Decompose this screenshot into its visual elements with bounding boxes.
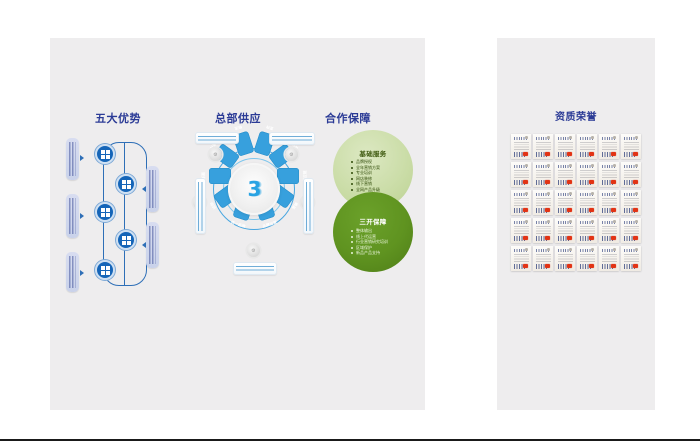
- certificate-red-seal: [523, 236, 528, 241]
- section-title-supply: 总部供应: [215, 110, 261, 126]
- certificate-emblem-icon: [569, 136, 572, 139]
- certificate-body-text: [580, 226, 595, 235]
- guarantee-circles: 基础服务 品牌授权全年营销方案专业培训网店装修线下营销全网产品升级 三开保障 整…: [325, 130, 435, 290]
- section-title-advantages: 五大优势: [95, 110, 141, 126]
- slide-canvas: 五大优势 总部供应 合作保障 统一品牌培训服: [0, 0, 700, 441]
- satellite-gear-icon-bottom[interactable]: ⚙: [247, 244, 260, 257]
- left-content-panel: 五大优势 总部供应 合作保障 统一品牌培训服: [50, 38, 425, 410]
- certificate-body-text: [558, 170, 573, 179]
- certificate-body-text: [624, 198, 639, 207]
- certificate-body-text: [536, 254, 551, 263]
- advantage-node-5[interactable]: [95, 260, 115, 280]
- guarantee-item-list: 品牌授权全年营销方案专业培训网店装修线下营销全网产品升级: [351, 159, 380, 193]
- supply-callout-right[interactable]: [303, 178, 314, 234]
- certificate-red-seal: [633, 236, 638, 241]
- certificate-red-seal: [567, 180, 572, 185]
- certificate-thumbnail[interactable]: [533, 162, 553, 187]
- certificate-emblem-icon: [613, 136, 616, 139]
- certificate-thumbnail[interactable]: [577, 162, 597, 187]
- supply-callout-bottom[interactable]: [233, 262, 277, 275]
- certificate-thumbnail[interactable]: [577, 218, 597, 243]
- certificate-thumbnail[interactable]: [577, 246, 597, 271]
- supply-callout-left[interactable]: [195, 178, 206, 234]
- right-content-panel: 资质荣誉: [497, 38, 655, 410]
- satellite-gear-icon-top-left[interactable]: ⚙: [209, 148, 222, 161]
- certificate-body-text: [602, 226, 617, 235]
- certificate-red-seal: [589, 152, 594, 157]
- certificate-emblem-icon: [569, 220, 572, 223]
- certificate-thumbnail[interactable]: [621, 134, 641, 159]
- advantage-node-2[interactable]: [116, 174, 136, 194]
- certificate-emblem-icon: [635, 192, 638, 195]
- certificate-body-text: [580, 170, 595, 179]
- grid-squares-icon: [101, 208, 110, 217]
- certificate-red-seal: [545, 264, 550, 269]
- certificate-body-text: [580, 198, 595, 207]
- certificate-red-seal: [589, 208, 594, 213]
- supply-ring-diagram: 统一品牌培训服务支持物流宣传设计供应链营销品牌运营 3 ⚙ ⚙ ⚙ ⚙ ⚙: [191, 126, 316, 316]
- certificate-thumbnail[interactable]: [621, 218, 641, 243]
- certificate-body-text: [514, 142, 529, 151]
- certificate-emblem-icon: [635, 248, 638, 251]
- certificate-red-seal: [589, 264, 594, 269]
- certificate-body-text: [514, 254, 529, 263]
- certificate-emblem-icon: [525, 220, 528, 223]
- certificate-emblem-icon: [591, 164, 594, 167]
- certificate-thumbnail[interactable]: [511, 162, 531, 187]
- certificate-body-text: [580, 142, 595, 151]
- certificate-red-seal: [545, 236, 550, 241]
- section-title-guarantee: 合作保障: [325, 110, 371, 126]
- certificate-red-seal: [611, 236, 616, 241]
- supply-callout-top-left[interactable]: [195, 132, 239, 144]
- certificate-emblem-icon: [569, 192, 572, 195]
- certificate-emblem-icon: [613, 248, 616, 251]
- certificate-body-text: [514, 226, 529, 235]
- certificate-red-seal: [567, 236, 572, 241]
- certificate-emblem-icon: [591, 192, 594, 195]
- certificate-thumbnail[interactable]: [533, 246, 553, 271]
- certificate-thumbnail[interactable]: [599, 218, 619, 243]
- certificate-red-seal: [589, 236, 594, 241]
- certificate-thumbnail[interactable]: [533, 190, 553, 215]
- certificate-emblem-icon: [635, 164, 638, 167]
- certificate-red-seal: [611, 152, 616, 157]
- advantage-callout-4[interactable]: [146, 222, 159, 268]
- grid-squares-icon: [101, 266, 110, 275]
- certificate-emblem-icon: [547, 248, 550, 251]
- certificate-thumbnail[interactable]: [577, 134, 597, 159]
- certificate-emblem-icon: [525, 136, 528, 139]
- certificate-body-text: [536, 226, 551, 235]
- advantage-callout-3[interactable]: [66, 194, 79, 238]
- certificate-thumbnail[interactable]: [555, 162, 575, 187]
- certificate-thumbnail[interactable]: [577, 190, 597, 215]
- certificate-emblem-icon: [591, 220, 594, 223]
- certificate-emblem-icon: [525, 248, 528, 251]
- certificate-thumbnail[interactable]: [533, 218, 553, 243]
- certificate-thumbnail[interactable]: [599, 246, 619, 271]
- certificate-red-seal: [633, 152, 638, 157]
- certificate-body-text: [514, 198, 529, 207]
- certificate-emblem-icon: [547, 192, 550, 195]
- certificate-emblem-icon: [547, 136, 550, 139]
- certificate-body-text: [624, 226, 639, 235]
- certificate-emblem-icon: [525, 192, 528, 195]
- guarantee-item-list: 整体输出线上代运营行业营销研究培训区域保护新品产品支持: [351, 228, 388, 256]
- certificate-emblem-icon: [635, 136, 638, 139]
- grid-squares-icon: [101, 150, 110, 159]
- certificate-grid: [511, 134, 641, 271]
- advantage-callout-2[interactable]: [146, 166, 159, 212]
- certificate-emblem-icon: [547, 220, 550, 223]
- certificate-body-text: [514, 170, 529, 179]
- advantage-node-4[interactable]: [116, 230, 136, 250]
- certificate-thumbnail[interactable]: [599, 134, 619, 159]
- certificate-body-text: [558, 198, 573, 207]
- certificate-emblem-icon: [591, 136, 594, 139]
- callout-arrow-3: [80, 213, 84, 219]
- certificate-body-text: [558, 254, 573, 263]
- callout-arrow-1: [80, 155, 84, 161]
- certificate-body-text: [580, 254, 595, 263]
- certificate-red-seal: [567, 208, 572, 213]
- certificate-emblem-icon: [591, 248, 594, 251]
- certificate-emblem-icon: [547, 164, 550, 167]
- certificate-body-text: [558, 142, 573, 151]
- certificate-body-text: [624, 254, 639, 263]
- certificate-red-seal: [589, 180, 594, 185]
- certificate-thumbnail[interactable]: [599, 162, 619, 187]
- certificate-body-text: [602, 142, 617, 151]
- certificate-red-seal: [523, 208, 528, 213]
- certificate-thumbnail[interactable]: [621, 190, 641, 215]
- certificate-body-text: [558, 226, 573, 235]
- certificate-red-seal: [611, 208, 616, 213]
- certificate-thumbnail[interactable]: [555, 246, 575, 271]
- certificate-emblem-icon: [613, 192, 616, 195]
- certificate-red-seal: [567, 264, 572, 269]
- certificate-red-seal: [523, 264, 528, 269]
- certificate-red-seal: [567, 152, 572, 157]
- certificate-thumbnail[interactable]: [533, 134, 553, 159]
- certificate-body-text: [624, 142, 639, 151]
- grid-squares-icon: [122, 236, 131, 245]
- advantage-callout-5[interactable]: [66, 252, 79, 292]
- certificate-emblem-icon: [613, 220, 616, 223]
- satellite-gear-icon-top-right[interactable]: ⚙: [285, 148, 298, 161]
- certificate-red-seal: [611, 264, 616, 269]
- advantage-node-1[interactable]: [95, 144, 115, 164]
- certificate-thumbnail[interactable]: [621, 246, 641, 271]
- advantage-callout-1[interactable]: [66, 138, 79, 180]
- certificate-thumbnail[interactable]: [511, 218, 531, 243]
- certificate-thumbnail[interactable]: [511, 134, 531, 159]
- flow-spine: [124, 142, 125, 286]
- section-title-honors: 资质荣誉: [497, 108, 655, 123]
- advantages-flow-diagram: [78, 134, 188, 294]
- logo-text: 3: [248, 179, 261, 199]
- certificate-red-seal: [523, 152, 528, 157]
- certificate-red-seal: [633, 264, 638, 269]
- certificate-thumbnail[interactable]: [511, 246, 531, 271]
- certificate-red-seal: [611, 180, 616, 185]
- certificate-emblem-icon: [613, 164, 616, 167]
- certificate-thumbnail[interactable]: [555, 134, 575, 159]
- supply-center-logo: 3: [228, 163, 280, 215]
- certificate-red-seal: [633, 208, 638, 213]
- certificate-body-text: [536, 170, 551, 179]
- guarantee-list-item: 新品产品支持: [351, 250, 388, 256]
- certificate-red-seal: [523, 180, 528, 185]
- certificate-red-seal: [545, 208, 550, 213]
- advantage-node-3[interactable]: [95, 202, 115, 222]
- certificate-thumbnail[interactable]: [555, 190, 575, 215]
- grid-squares-icon: [122, 180, 131, 189]
- certificate-emblem-icon: [635, 220, 638, 223]
- certificate-body-text: [536, 198, 551, 207]
- guarantee-circle-three-guarantee[interactable]: 三开保障 整体输出线上代运营行业营销研究培训区域保护新品产品支持: [333, 192, 413, 272]
- certificate-body-text: [602, 170, 617, 179]
- certificate-thumbnail[interactable]: [599, 190, 619, 215]
- certificate-emblem-icon: [569, 164, 572, 167]
- guarantee-circle-title: 基础服务: [333, 148, 413, 158]
- callout-arrow-2: [142, 186, 146, 192]
- certificate-thumbnail[interactable]: [511, 190, 531, 215]
- certificate-body-text: [602, 198, 617, 207]
- certificate-thumbnail[interactable]: [621, 162, 641, 187]
- ring-segment-label: 宣传: [261, 123, 278, 132]
- callout-arrow-4: [142, 242, 146, 248]
- certificate-red-seal: [545, 180, 550, 185]
- guarantee-circle-title: 三开保障: [333, 216, 413, 226]
- certificate-red-seal: [545, 152, 550, 157]
- certificate-emblem-icon: [525, 164, 528, 167]
- certificate-red-seal: [633, 180, 638, 185]
- certificate-body-text: [602, 254, 617, 263]
- certificate-emblem-icon: [569, 248, 572, 251]
- supply-callout-top-right[interactable]: [269, 132, 315, 145]
- certificate-thumbnail[interactable]: [555, 218, 575, 243]
- certificate-body-text: [624, 170, 639, 179]
- certificate-body-text: [536, 142, 551, 151]
- callout-arrow-5: [80, 270, 84, 276]
